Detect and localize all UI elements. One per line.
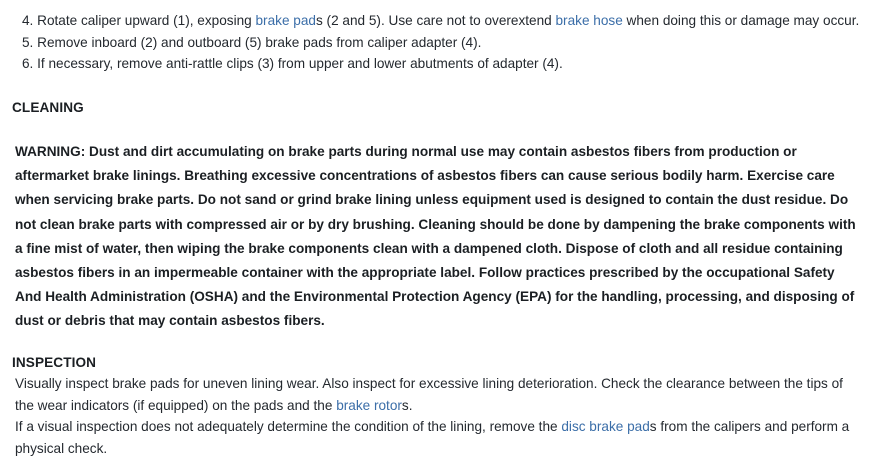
text-run: Visually inspect brake pads for uneven l… <box>15 376 843 413</box>
section-heading-inspection: INSPECTION <box>12 352 862 374</box>
step-text: Rotate caliper upward (1), exposing brak… <box>37 13 859 28</box>
inline-link[interactable]: disc brake pad <box>561 419 649 434</box>
inline-link[interactable]: brake pad <box>256 13 316 28</box>
spacer <box>12 334 862 352</box>
document-page: 4. Rotate caliper upward (1), exposing b… <box>0 0 870 458</box>
spacer <box>12 75 862 97</box>
text-run: s (2 and 5). Use care not to overextend <box>316 13 556 28</box>
step-number: 4. <box>22 13 33 28</box>
spacer <box>12 118 862 140</box>
text-run: s. <box>402 398 413 413</box>
step-text: If necessary, remove anti-rattle clips (… <box>37 56 563 71</box>
step-number: 6. <box>22 56 33 71</box>
text-run: when doing this or damage may occur. <box>623 13 860 28</box>
text-run: If a visual inspection does not adequate… <box>15 419 561 434</box>
step-number: 5. <box>22 35 33 50</box>
section-heading-cleaning: CLEANING <box>12 97 862 119</box>
text-run: If necessary, remove anti-rattle clips (… <box>37 56 563 71</box>
inline-link[interactable]: brake hose <box>556 13 623 28</box>
inline-link[interactable]: brake rotor <box>336 398 402 413</box>
text-run: Remove inboard (2) and outboard (5) brak… <box>37 35 481 50</box>
list-item: 5. Remove inboard (2) and outboard (5) b… <box>12 32 862 54</box>
text-run: Rotate caliper upward (1), exposing <box>37 13 255 28</box>
list-item: 6. If necessary, remove anti-rattle clip… <box>12 53 862 75</box>
warning-paragraph: WARNING: Dust and dirt accumulating on b… <box>12 140 862 334</box>
step-text: Remove inboard (2) and outboard (5) brak… <box>37 35 481 50</box>
list-item: 4. Rotate caliper upward (1), exposing b… <box>12 10 862 32</box>
inspection-paragraph: If a visual inspection does not adequate… <box>12 416 862 459</box>
inspection-paragraph: Visually inspect brake pads for uneven l… <box>12 373 862 416</box>
procedure-steps-list: 4. Rotate caliper upward (1), exposing b… <box>12 10 862 75</box>
